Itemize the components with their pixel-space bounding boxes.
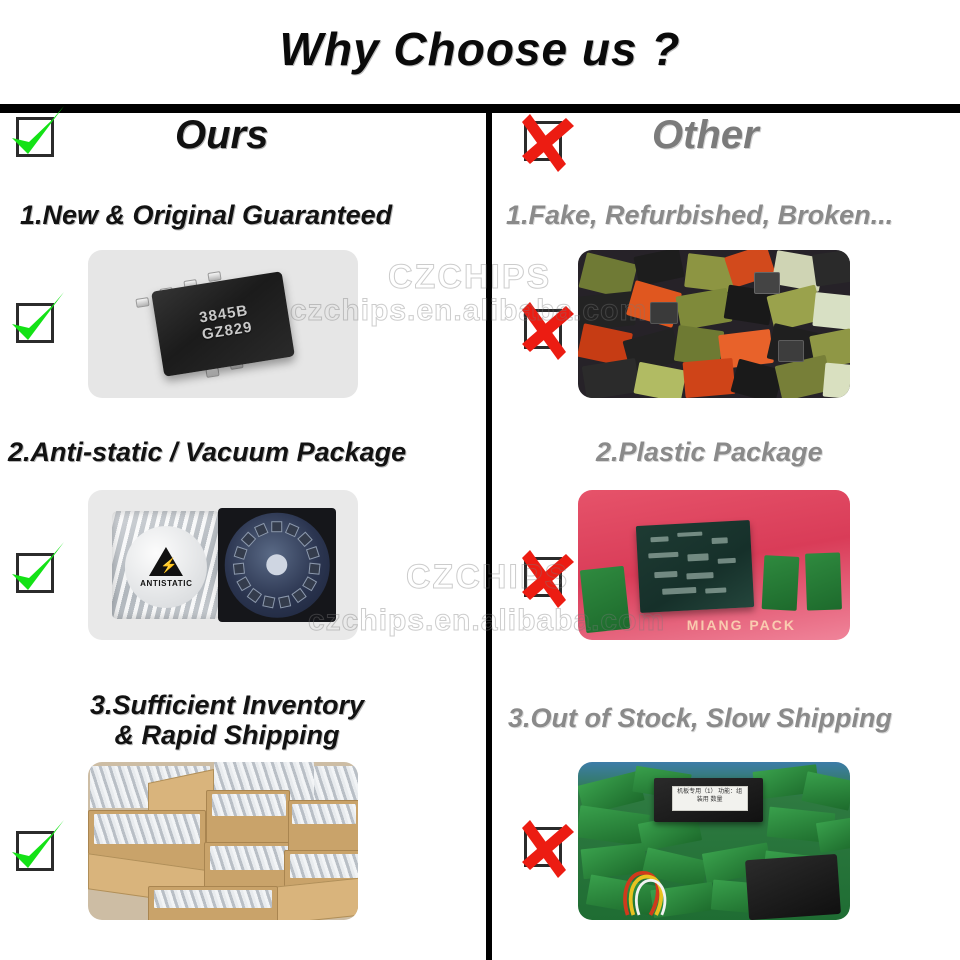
check-mark-icon bbox=[8, 108, 64, 164]
feature-label-left-2: 2.Anti-static / Vacuum Package bbox=[8, 437, 406, 467]
header-divider-horizontal bbox=[0, 104, 960, 113]
brand-watermark-1: CZCHIPS bbox=[388, 258, 551, 297]
antistatic-bag: ANTISTATIC bbox=[112, 511, 220, 619]
check-mark-icon bbox=[8, 294, 64, 350]
feature-label-right-1: 1.Fake, Refurbished, Broken... bbox=[506, 200, 893, 230]
reel-tape bbox=[225, 513, 330, 618]
pack-watermark-text: MIANG PACK bbox=[687, 617, 796, 633]
module-label-text: 机板专用（1） 功能：组装用 数量 bbox=[672, 786, 748, 812]
column-heading-ours: Ours bbox=[175, 113, 268, 158]
pcb-scrap-photo: 机板专用（1） 功能：组装用 数量 bbox=[578, 762, 850, 920]
page-title: Why Choose us ? bbox=[0, 22, 960, 76]
feature-label-left-1: 1.New & Original Guaranteed bbox=[20, 200, 392, 230]
plastic-package-photo: MIANG PACK bbox=[578, 490, 850, 640]
cross-mark-row-1 bbox=[516, 300, 572, 356]
check-mark-row-3 bbox=[8, 822, 64, 878]
cross-mark-icon bbox=[516, 818, 572, 874]
cross-mark-row-2 bbox=[516, 548, 572, 604]
bagged-pcb-main bbox=[636, 520, 755, 613]
check-mark-row-2 bbox=[8, 544, 64, 600]
feature-label-left-3: 3.Sufficient Inventory & Rapid Shipping bbox=[62, 690, 392, 750]
cross-mark-icon bbox=[516, 300, 572, 356]
reel-hub bbox=[267, 555, 288, 576]
check-mark-icon bbox=[8, 822, 64, 878]
column-divider-vertical bbox=[486, 113, 492, 960]
esd-warning-icon bbox=[149, 547, 183, 576]
check-mark-icon bbox=[8, 544, 64, 600]
black-module: 机板专用（1） 功能：组装用 数量 bbox=[654, 778, 763, 822]
check-mark-row-1 bbox=[8, 294, 64, 350]
black-case bbox=[745, 854, 841, 920]
feature-label-right-2: 2.Plastic Package bbox=[596, 437, 823, 467]
antistatic-label-disc: ANTISTATIC bbox=[125, 526, 207, 608]
feature-label-right-3: 3.Out of Stock, Slow Shipping bbox=[508, 703, 892, 733]
column-heading-other: Other bbox=[652, 113, 759, 158]
scrap-chips-photo bbox=[578, 250, 850, 398]
wire-bundle-icon bbox=[616, 860, 687, 917]
check-mark-header-ours bbox=[8, 108, 64, 164]
cross-mark-icon bbox=[516, 112, 572, 168]
component-reel bbox=[218, 508, 337, 622]
original-chip-photo: 3845B GZ829 bbox=[88, 250, 358, 398]
antistatic-label-text: ANTISTATIC bbox=[140, 579, 192, 588]
inventory-boxes-photo bbox=[88, 762, 358, 920]
cross-mark-header-other bbox=[516, 112, 572, 168]
cross-mark-row-3 bbox=[516, 818, 572, 874]
cross-mark-icon bbox=[516, 548, 572, 604]
antistatic-package-photo: ANTISTATIC bbox=[88, 490, 358, 640]
why-choose-us-banner: Why Choose us ? Ours Other 1.New & Origi… bbox=[0, 0, 960, 960]
